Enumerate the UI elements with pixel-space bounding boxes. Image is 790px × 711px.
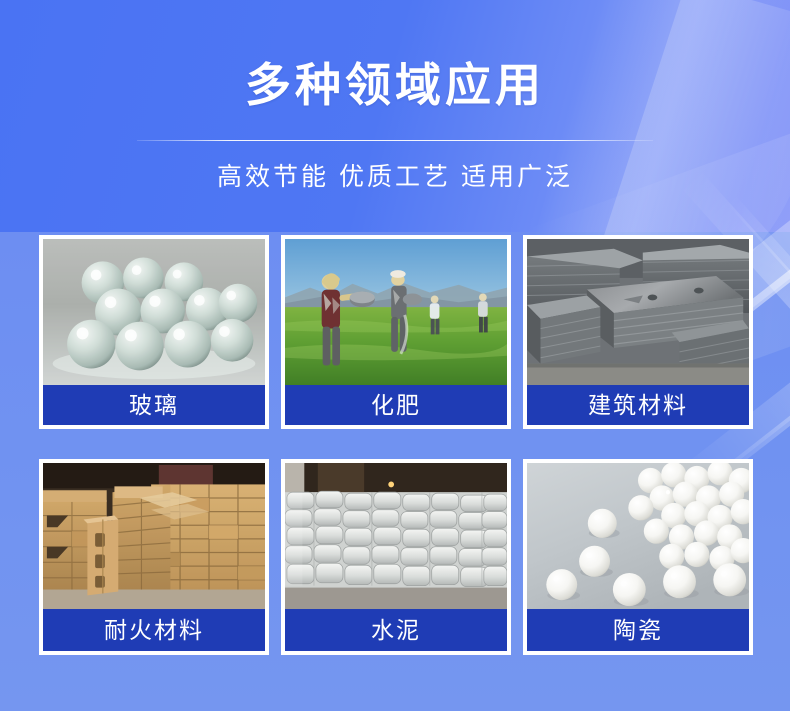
application-card-building-materials[interactable]: 建筑材料 bbox=[523, 235, 753, 429]
page-subtitle: 高效节能 优质工艺 适用广泛 bbox=[0, 165, 790, 190]
application-card-glass[interactable]: 玻璃 bbox=[39, 235, 269, 429]
card-label-text: 水泥 bbox=[371, 619, 421, 642]
card-label-text: 化肥 bbox=[371, 394, 421, 417]
card-label-bar: 耐火材料 bbox=[39, 609, 269, 655]
card-label-text: 玻璃 bbox=[129, 394, 179, 417]
card-label-bar: 陶瓷 bbox=[523, 609, 753, 655]
page-title: 多种领域应用 bbox=[0, 0, 790, 108]
building-panels-photo bbox=[523, 235, 753, 385]
application-card-fertilizer[interactable]: 化肥 bbox=[281, 235, 511, 429]
glass-marbles-photo bbox=[39, 235, 269, 385]
fertilizer-field-photo bbox=[281, 235, 511, 385]
title-divider bbox=[137, 140, 653, 141]
card-label-bar: 建筑材料 bbox=[523, 385, 753, 429]
card-label-bar: 化肥 bbox=[281, 385, 511, 429]
refractory-bricks-photo bbox=[39, 459, 269, 609]
application-card-cement[interactable]: 水泥 bbox=[281, 459, 511, 655]
hero-header: 多种领域应用 高效节能 优质工艺 适用广泛 bbox=[0, 0, 790, 190]
card-label-text: 陶瓷 bbox=[613, 619, 663, 642]
card-label-text: 耐火材料 bbox=[104, 619, 204, 642]
cement-bags-photo bbox=[281, 459, 511, 609]
application-card-grid: 玻璃 bbox=[39, 235, 753, 655]
application-card-ceramics[interactable]: 陶瓷 bbox=[523, 459, 753, 655]
card-label-bar: 水泥 bbox=[281, 609, 511, 655]
card-label-text: 建筑材料 bbox=[588, 394, 688, 417]
application-card-refractory[interactable]: 耐火材料 bbox=[39, 459, 269, 655]
ceramic-balls-photo bbox=[523, 459, 753, 609]
card-label-bar: 玻璃 bbox=[39, 385, 269, 429]
